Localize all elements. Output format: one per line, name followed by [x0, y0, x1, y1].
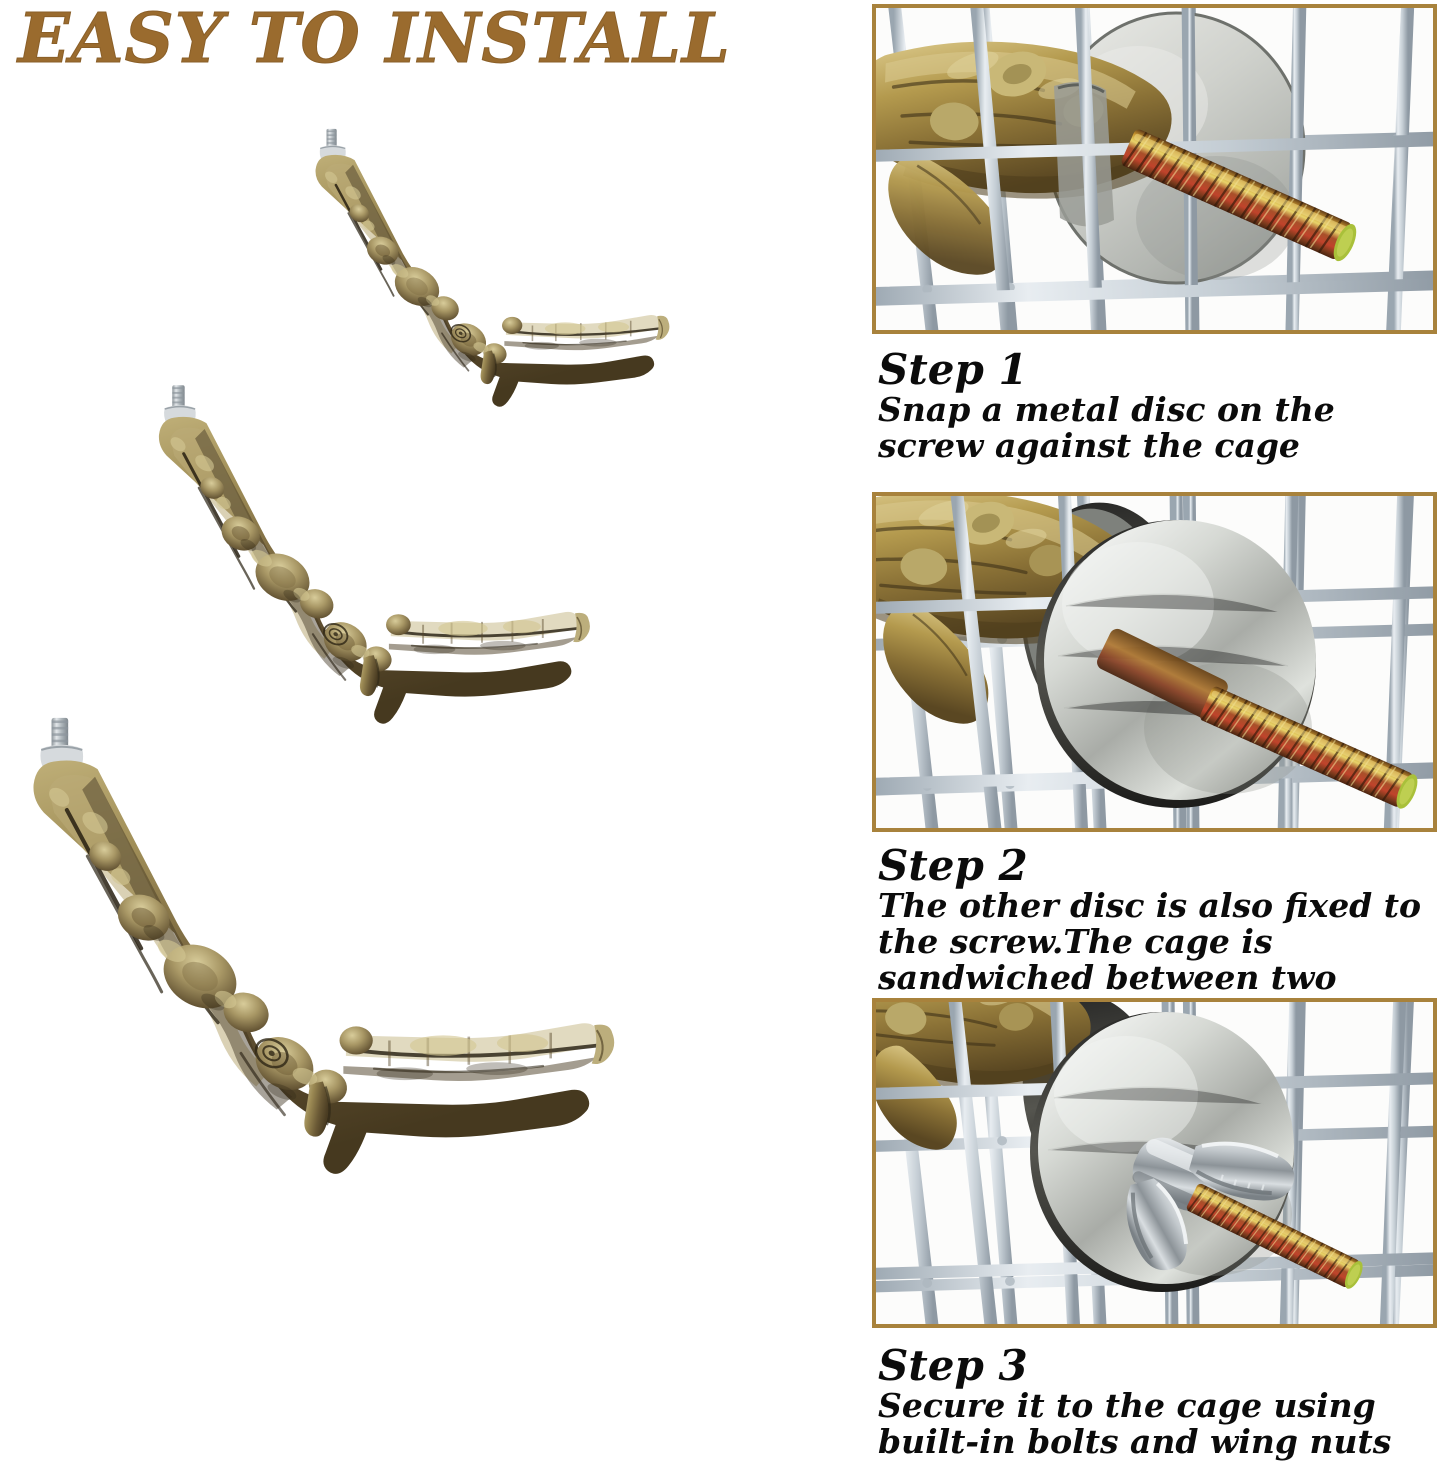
perch-medium: [140, 372, 615, 686]
perch-small: [300, 118, 690, 375]
perch-large: [8, 700, 648, 1135]
step-3-illustration: [876, 1002, 1433, 1324]
step-1-illustration: [876, 8, 1433, 330]
step-2-title: Step 2: [878, 844, 1438, 888]
step-3-photo: [872, 998, 1437, 1328]
step-3-title: Step 3: [878, 1344, 1438, 1388]
step-3-description: Secure it to the cage using built-in bol…: [878, 1388, 1438, 1460]
step-1-photo: [872, 4, 1437, 334]
step-1-description: Snap a metal disc on the screw against t…: [878, 392, 1438, 464]
step-1-title: Step 1: [878, 348, 1438, 392]
step-2-photo: [872, 492, 1437, 832]
step-2-illustration: [876, 496, 1433, 828]
product-gallery: [0, 0, 868, 1453]
step-3-text: Step 3 Secure it to the cage using built…: [878, 1344, 1438, 1460]
step-1-text: Step 1 Snap a metal disc on the screw ag…: [878, 348, 1438, 464]
installation-steps: Step 1 Snap a metal disc on the screw ag…: [868, 0, 1445, 1453]
